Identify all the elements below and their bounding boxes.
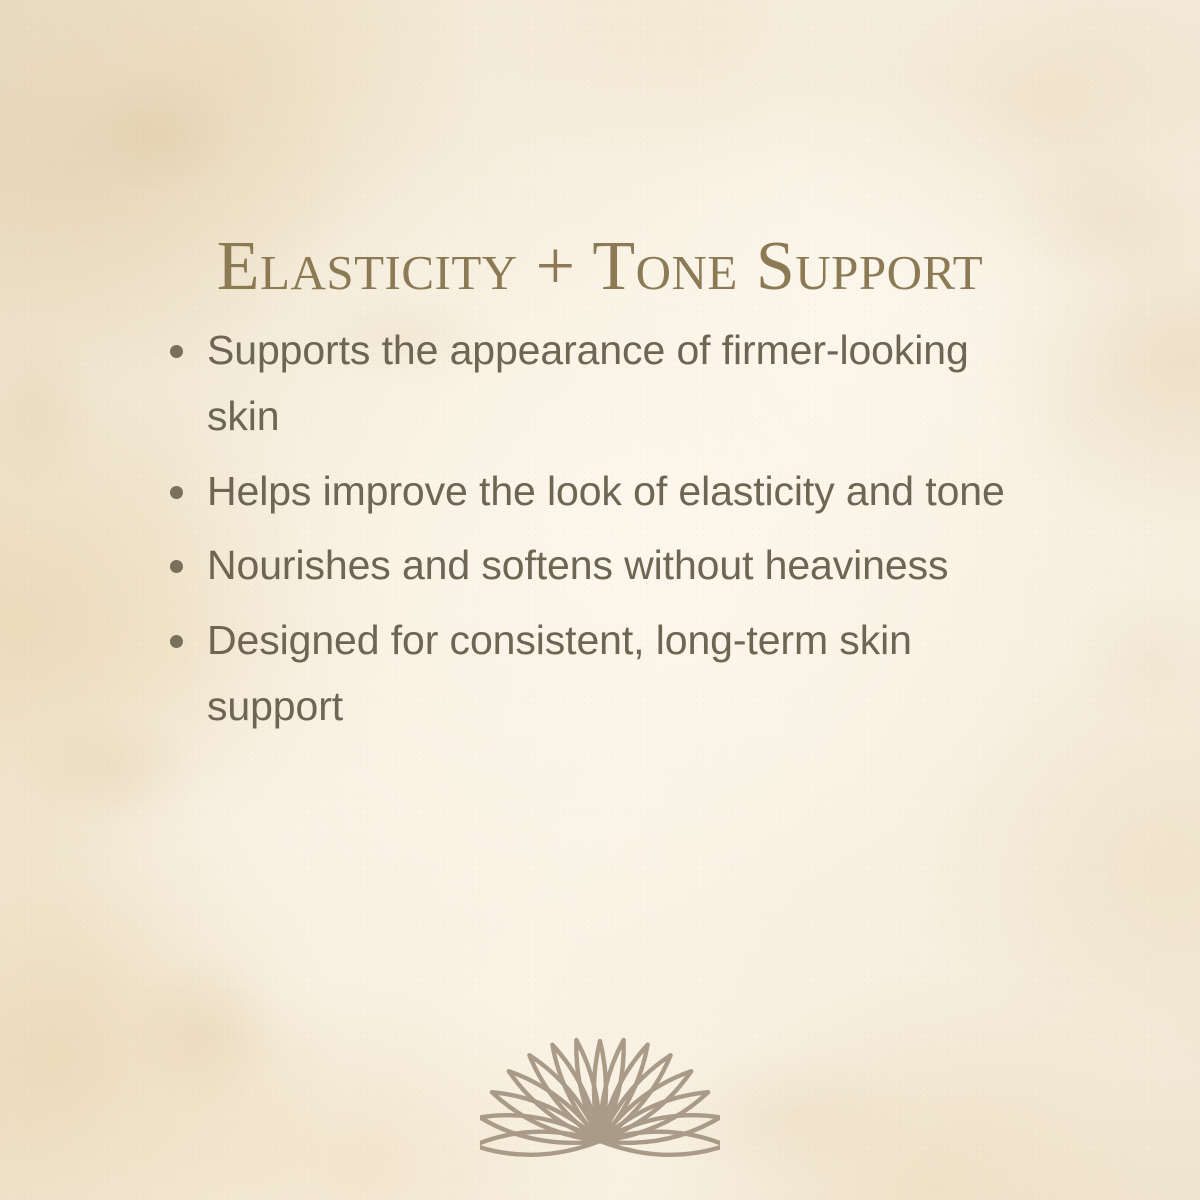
bullet-dot-icon (170, 345, 183, 358)
product-benefits-card: Elasticity + Tone Support Supports the a… (0, 0, 1200, 1200)
list-item: Nourishes and softens without heaviness (152, 532, 1052, 598)
benefit-text: Nourishes and softens without heaviness (207, 532, 1052, 598)
bullet-dot-icon (170, 560, 183, 573)
list-item: Designed for consistent, long-term skin … (152, 607, 1052, 740)
page-title: Elasticity + Tone Support (0, 230, 1200, 304)
lotus-flower-icon (480, 1008, 720, 1158)
benefit-text: Designed for consistent, long-term skin … (207, 607, 1052, 740)
benefits-list: Supports the appearance of firmer-lookin… (152, 317, 1052, 747)
bullet-dot-icon (170, 635, 183, 648)
benefit-text: Helps improve the look of elasticity and… (207, 458, 1052, 524)
benefit-text: Supports the appearance of firmer-lookin… (207, 317, 1052, 450)
bullet-dot-icon (170, 486, 183, 499)
list-item: Helps improve the look of elasticity and… (152, 458, 1052, 524)
list-item: Supports the appearance of firmer-lookin… (152, 317, 1052, 450)
